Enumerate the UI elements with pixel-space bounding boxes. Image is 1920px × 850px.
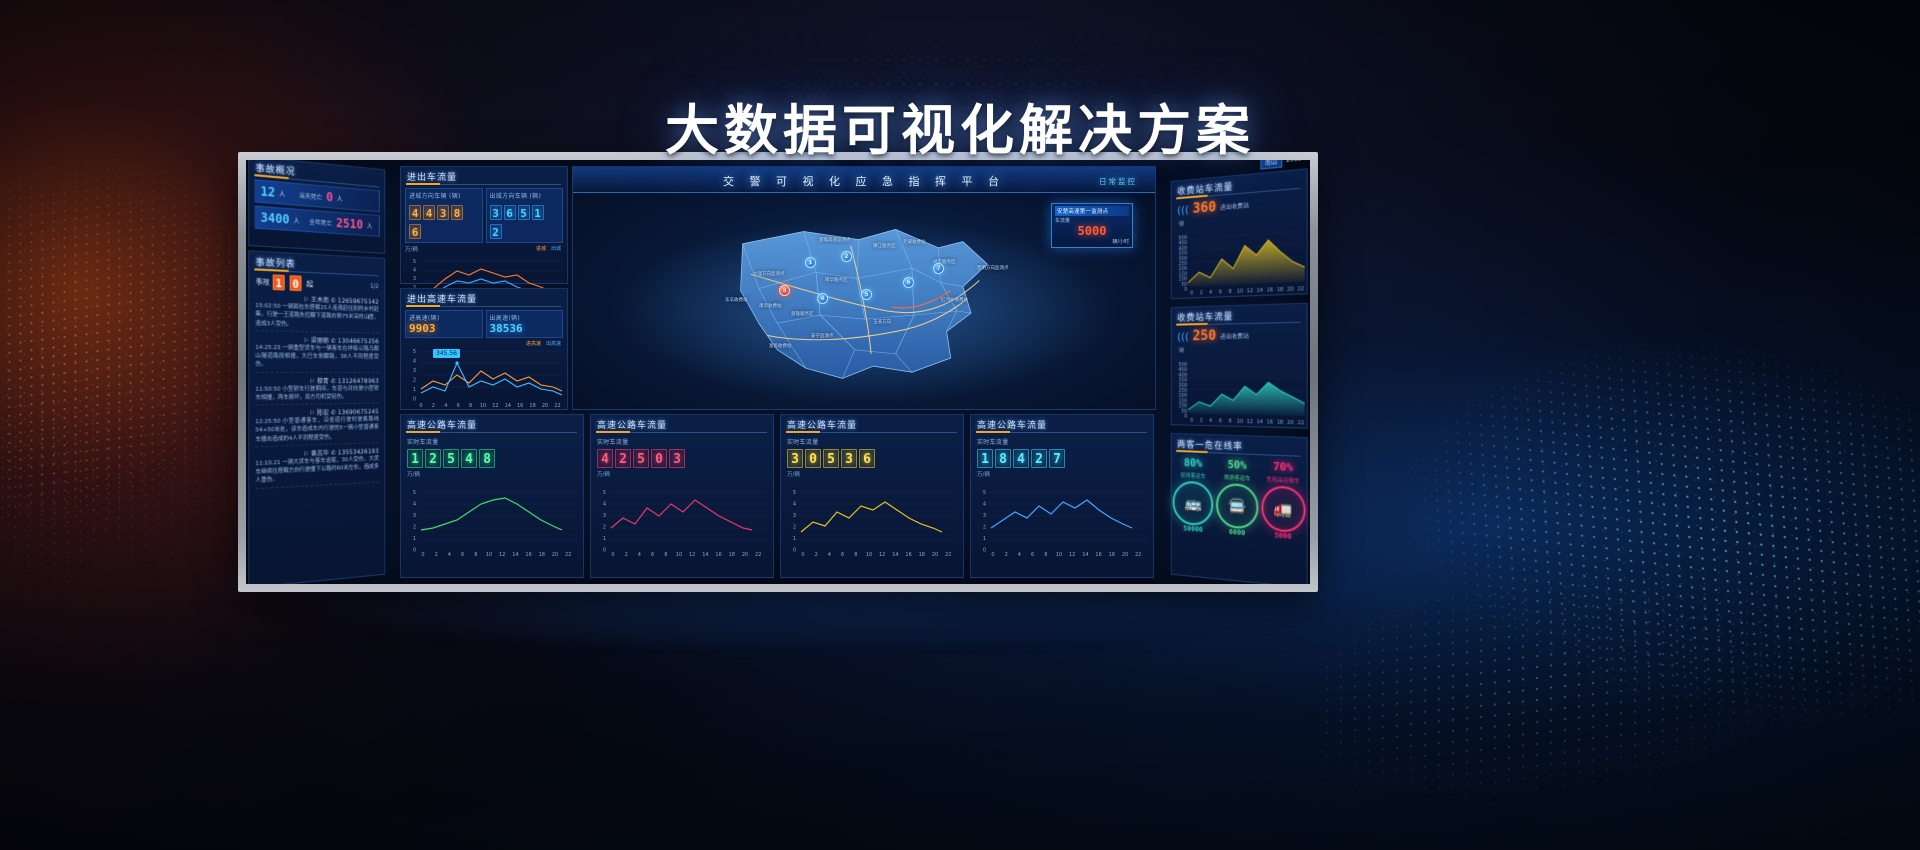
axis-tick: 18 — [1277, 287, 1283, 294]
map-callout-unit: 辆/小时 — [1055, 238, 1129, 245]
map-callout-value: 5000 — [1055, 224, 1129, 238]
digit-0: 1 — [977, 449, 993, 468]
axis-tick: 20 — [1287, 286, 1293, 293]
axis-tick: 4 — [413, 359, 416, 365]
digit-2: 3 — [437, 205, 449, 220]
axis-tick: 6 — [461, 552, 464, 558]
axis-tick: 6 — [1031, 552, 1034, 558]
outbound-digits: 36512 — [490, 202, 560, 240]
digit-3: 4 — [461, 449, 477, 468]
panel-highway-flow-4: 高速公路车流量实时车流量18427万/辆54321002468101214161… — [970, 414, 1154, 578]
highway-flow-title: 高速公路车流量 — [781, 415, 963, 433]
axis-tick: 20 — [742, 552, 748, 558]
toll-station-value: 250 — [1193, 328, 1217, 344]
accident-list-items[interactable]: ⚐ 王木南 ✆ 1265967554215:02:50 一辆面包车搭载15人连夜… — [249, 292, 384, 489]
highway-flow-chart: 5432100246810121416182022 — [405, 478, 581, 564]
axis-tick: 22 — [565, 552, 571, 558]
axis-tick: 0 — [1190, 418, 1193, 424]
digit-1: 6 — [504, 205, 516, 220]
digit-0: 3 — [490, 205, 502, 220]
highway-flow-sub: 实时车流量 — [597, 437, 773, 446]
map-label: 元谋收费站 — [903, 239, 926, 245]
axis-tick: 10 — [1237, 419, 1243, 426]
year-death-caption: 全年死亡 — [309, 216, 332, 227]
axis-tick: 16 — [517, 403, 523, 409]
axis-tick: 6 — [1219, 289, 1222, 295]
truck-icon: 🚛 — [1261, 485, 1305, 534]
axis-tick: 20 — [542, 403, 548, 409]
digit-2: 5 — [823, 449, 839, 468]
axis-tick: 0 — [1184, 287, 1187, 293]
axis-tick: 18 — [529, 403, 535, 409]
toll-station-value: 360 — [1193, 199, 1217, 217]
axis-tick: 14 — [505, 403, 511, 409]
axis-tick: 14 — [1257, 287, 1263, 294]
today-death-unit: 人 — [337, 193, 343, 203]
axis-tick: 5 — [983, 490, 986, 496]
map-pin[interactable]: 5 — [861, 289, 872, 300]
axis-tick: 2 — [435, 552, 438, 558]
axis-tick: 5 — [603, 490, 606, 496]
axis-tick: 18 — [1277, 419, 1283, 426]
axis-tick: 22 — [1298, 420, 1305, 427]
axis-tick: 4 — [1018, 552, 1021, 558]
highway-flow-unit: 万/辆 — [407, 470, 583, 478]
online-rate-items: 80%班线客运车🚌5000050%旅游客运车🚍600070%危险品运输车🚛500… — [1172, 452, 1307, 542]
axis-tick: 4 — [983, 502, 986, 508]
axis-tick: 12 — [689, 552, 695, 558]
online-rate-item[interactable]: 80%班线客运车🚌50000 — [1172, 456, 1215, 535]
axis-tick: 0 — [413, 548, 416, 554]
axis-tick: 100 — [1178, 276, 1187, 283]
axis-tick: 3 — [413, 368, 416, 374]
axis-tick: 0 — [419, 403, 422, 409]
highway-flow-sub: 实时车流量 — [407, 437, 583, 446]
online-rate-count: 50000 — [1172, 524, 1215, 535]
accident-count-unit: 起 — [306, 278, 313, 288]
list-item[interactable]: ⚐ 陈宏 ✆ 1369067524512:25:50 小型普通客车，沿省道行驶时… — [255, 407, 378, 448]
toll-station-label: 进出收费站 — [1220, 331, 1249, 341]
digit-4: 8 — [479, 449, 495, 468]
axis-tick: 2 — [793, 525, 796, 531]
accident-list-title: 事故列表 — [249, 251, 384, 276]
list-item[interactable]: ⚐ 梁丽丽 ✆ 1304667525614:25:23 一辆重型货车与一辆客车在… — [255, 334, 378, 372]
highway-flow-chart: 5432100246810121416182022 — [975, 478, 1151, 564]
online-rate-name: 班线客运车 — [1172, 470, 1215, 480]
legend-highway-in: 进高速 — [526, 340, 541, 347]
digit-2: 4 — [1013, 449, 1029, 468]
axis-tick: 10 — [1056, 552, 1062, 558]
panel-highway-flow-1: 高速公路车流量实时车流量12548万/辆54321002468101214161… — [400, 414, 584, 578]
digit-4: 7 — [1049, 449, 1065, 468]
axis-tick: 12 — [1069, 552, 1075, 558]
highway-flow-digits: 18427 — [977, 448, 1153, 468]
axis-tick: 20 — [1287, 420, 1293, 427]
accident-contact: ⚐ 穆青 ✆ 13126478963 — [255, 375, 378, 385]
map-label: 东瓜收费站 — [725, 297, 748, 303]
highway-flow-chart: 5432100246810121416182022 — [595, 478, 771, 564]
accident-count: 事故 1 0 起 1/2 — [255, 274, 378, 294]
axis-tick: 18 — [1277, 419, 1283, 426]
axis-tick: 6 — [457, 403, 460, 409]
wall-segment-center: 进出车流量 进城方向车辆 (辆) 44386 出城方向车辆 (辆) 36512 — [396, 160, 1160, 584]
digit-3: 1 — [532, 205, 544, 220]
axis-tick: 10 — [486, 552, 492, 558]
axis-tick: 10 — [1237, 288, 1243, 295]
axis-tick: 14 — [892, 552, 898, 558]
digit-3: 3 — [841, 449, 857, 468]
map-label: 昆明方向监测点 — [977, 265, 1009, 271]
year-death-value: 2510 — [336, 216, 363, 232]
axis-tick: 12 — [492, 403, 498, 409]
toll-station-readout: ((( 250进出收费站 — [1177, 326, 1300, 344]
digit-4: 2 — [490, 224, 502, 239]
highway-out-value: 38536 — [490, 322, 560, 335]
axis-tick: 22 — [1298, 420, 1305, 427]
axis-tick: 16 — [1267, 419, 1273, 426]
axis-tick: 10 — [676, 552, 682, 558]
map-label: 红河州收费站 — [941, 297, 968, 303]
highway-flow-unit: 万/辆 — [597, 470, 773, 478]
panel-highway-flow-3: 高速公路车流量实时车流量30536万/辆54321002468101214161… — [780, 414, 964, 578]
accident-text: 11:50:50 小型轿车行驶期间，车道与对向驶小型轿车相撞，两车损坏，双方司机… — [255, 384, 378, 402]
toll-station-label: 进出收费站 — [1220, 200, 1249, 211]
axis-tick: 22 — [1298, 286, 1305, 293]
highway-flow-digits: 42503 — [597, 448, 773, 468]
axis-tick: 12 — [1247, 419, 1253, 426]
panel-toll-station-2: 收费站车流量((( 360进出收费站辆500450400350300250200… — [1171, 168, 1308, 299]
accident-text: 11:10:21 一辆大货车与客车追尾，30人受伤，大货车继续往搭载方向行驶撞下… — [255, 455, 378, 486]
year-death-unit: 人 — [367, 221, 373, 230]
coach-icon: 🚍 — [1216, 483, 1258, 530]
axis-tick: 0 — [611, 552, 614, 558]
axis-tick: 0 — [603, 548, 606, 554]
list-item[interactable]: ⚐ 黄志华 ✆ 1355342619311:10:21 一辆大货车与客车追尾，3… — [255, 446, 378, 489]
accident-count-digit-0: 1 — [273, 274, 285, 290]
axis-tick: 2 — [413, 378, 416, 384]
inbound-counter: 进城方向车辆 (辆) 44386 — [405, 188, 483, 243]
list-item[interactable]: ⚐ 穆青 ✆ 1312647896311:50:50 小型轿车行驶期间，车道与对… — [255, 375, 378, 405]
accident-list-page: 1/2 — [370, 283, 379, 290]
digit-0: 3 — [787, 449, 803, 468]
highway-flow-sub: 实时车流量 — [787, 437, 963, 446]
axis-tick: 8 — [1044, 552, 1047, 558]
highway-flow-digits: 30536 — [787, 448, 963, 468]
axis-tick: 4 — [413, 502, 416, 508]
accident-contact: ⚐ 王木南 ✆ 12659675542 — [255, 292, 378, 305]
bus-icon: 🚌 — [1173, 480, 1214, 526]
axis-tick: 2 — [625, 552, 628, 558]
axis-tick: 1 — [983, 536, 986, 542]
axis-tick: 6 — [1219, 289, 1222, 295]
axis-tick: 300 — [1178, 256, 1187, 263]
axis-tick: 18 — [1277, 287, 1283, 294]
axis-tick: 16 — [1267, 287, 1273, 294]
axis-tick: 18 — [919, 552, 925, 558]
inbound-digits: 44386 — [409, 202, 479, 240]
digit-1: 8 — [995, 449, 1011, 468]
axis-tick: 16 — [1267, 419, 1273, 426]
axis-tick: 12 — [1247, 288, 1253, 295]
online-rate-pct: 50% — [1215, 457, 1260, 472]
axis-tick: 4 — [638, 552, 641, 558]
map-pin[interactable]: 1 — [805, 257, 816, 268]
axis-tick: 22 — [554, 403, 560, 409]
panel-map: 交 警 可 视 化 应 急 指 挥 平 台 日常监控 — [572, 166, 1156, 410]
axis-tick: 1 — [413, 387, 416, 393]
axis-tick: 0 — [991, 552, 994, 558]
axis-tick: 4 — [1209, 418, 1212, 424]
axis-tick: 8 — [1229, 418, 1232, 424]
highway-flow-chart: 5432100246810121416182022 — [785, 478, 961, 564]
panel-highway-inout: 进出高速车流量 进高速(辆) 9903 出高速(辆) 38536 — [400, 288, 568, 410]
axis-tick: 4 — [603, 502, 606, 508]
axis-tick: 10 — [1237, 419, 1243, 426]
accident-text: 15:02:50 一辆面包车搭载15人连夜赶往别的乡村赶集，行驶一王道路失控翻下… — [255, 302, 378, 330]
toll-station-unit: 辆 — [1179, 345, 1303, 354]
digit-1: 4 — [423, 205, 435, 220]
digit-3: 2 — [1031, 449, 1047, 468]
today-death-value: 0 — [326, 190, 333, 205]
axis-tick: 4 — [1209, 290, 1212, 296]
axis-tick: 200 — [1178, 266, 1187, 273]
axis-tick: 12 — [879, 552, 885, 558]
toll-station-label: 进出收费站 — [1220, 331, 1249, 341]
digit-3: 8 — [451, 205, 463, 220]
axis-tick: 8 — [854, 552, 857, 558]
axis-tick: 20 — [1287, 286, 1293, 293]
axis-tick: 6 — [1219, 418, 1222, 424]
platform-subtitle: 日常监控 — [1099, 176, 1137, 187]
digit-1: 0 — [805, 449, 821, 468]
online-rate-name: 旅游客运车 — [1215, 473, 1260, 483]
axis-tick: 0 — [801, 552, 804, 558]
accident-text: 12:25:50 小型普通客车，沿省道行驶时驶离路线54+50米处，该车造成车内… — [255, 415, 378, 444]
today-injured-value: 12 — [261, 184, 276, 200]
digit-4: 3 — [669, 449, 685, 468]
axis-tick: 6 — [841, 552, 844, 558]
axis-tick: 0 — [983, 548, 986, 554]
highway-in-counter: 进高速(辆) 9903 — [405, 310, 483, 338]
online-rate-name: 危险品运输车 — [1260, 475, 1307, 486]
highway-flow-unit: 万/辆 — [787, 470, 963, 478]
digit-0: 1 — [407, 449, 423, 468]
signal-icon: ((( — [1177, 203, 1189, 217]
accident-count-digit-1: 0 — [290, 275, 302, 291]
digit-1: 2 — [425, 449, 441, 468]
particle-field-right — [1349, 296, 1920, 795]
digit-2: 5 — [518, 205, 530, 220]
highway-inout-title: 进出高速车流量 — [401, 289, 567, 307]
axis-tick: 5 — [793, 490, 796, 496]
axis-tick: 14 — [1082, 552, 1088, 558]
axis-tick: 500 — [1178, 235, 1187, 242]
axis-tick: 20 — [1122, 552, 1128, 558]
axis-tick: 10 — [1237, 288, 1243, 295]
axis-tick: 18 — [729, 552, 735, 558]
axis-tick: 2 — [413, 525, 416, 531]
signal-icon: ((( — [1177, 330, 1189, 343]
inout-flow-legend: 进城 出城 — [536, 245, 561, 252]
toll-station-title: 收费站车流量 — [1172, 304, 1307, 326]
axis-tick: 5 — [413, 490, 416, 496]
axis-tick: 150 — [1178, 271, 1187, 278]
axis-tick: 8 — [474, 552, 477, 558]
highway-out-counter: 出高速(辆) 38536 — [486, 310, 564, 338]
digit-1: 2 — [615, 449, 631, 468]
today-death-caption: 当天死亡 — [299, 190, 322, 201]
map-pin[interactable]: 2 — [841, 251, 852, 262]
legend-out: 出城 — [551, 245, 561, 252]
legend-in: 进城 — [536, 245, 546, 252]
map-pin[interactable]: 3 — [779, 285, 790, 296]
axis-tick: 8 — [1229, 289, 1232, 295]
axis-tick: 16 — [905, 552, 911, 558]
inbound-label: 进城方向车辆 (辆) — [409, 191, 479, 200]
axis-tick: 18 — [539, 552, 545, 558]
axis-tick: 20 — [1287, 420, 1293, 427]
axis-tick: 8 — [1229, 289, 1232, 295]
map-pin[interactable]: 7 — [933, 263, 944, 274]
axis-tick: 5 — [413, 349, 416, 355]
axis-tick: 10 — [480, 403, 486, 409]
map-pin[interactable]: 4 — [817, 293, 828, 304]
axis-tick: 2 — [1200, 418, 1203, 424]
digit-0: 4 — [597, 449, 613, 468]
digit-2: 5 — [443, 449, 459, 468]
axis-tick: 1 — [793, 536, 796, 542]
dashboard-screen: 事故概况 12 人 当天死亡 0 人 3400 人 全年死亡 2510 — [246, 160, 1310, 584]
axis-tick: 1 — [413, 536, 416, 542]
promo-stage: 大数据可视化解决方案 事故概况 12 人 当天死亡 0 人 — [0, 0, 1920, 850]
map-pin[interactable]: 6 — [903, 277, 914, 288]
axis-tick: 4 — [444, 403, 447, 409]
axis-tick: 22 — [1135, 552, 1141, 558]
axis-tick: 0 — [1190, 290, 1193, 296]
list-item[interactable]: ⚐ 王木南 ✆ 1265967554215:02:50 一辆面包车搭载15人连夜… — [255, 292, 378, 333]
axis-tick: 6 — [1219, 418, 1222, 424]
axis-tick: 1 — [603, 536, 606, 542]
axis-tick: 8 — [469, 403, 472, 409]
online-rate-count: 5000 — [1260, 530, 1307, 542]
toll-station-chart: 5004504003503002502001501005000246810121… — [1175, 219, 1304, 301]
axis-tick: 22 — [1298, 286, 1305, 293]
outbound-counter: 出城方向车辆 (辆) 36512 — [486, 188, 564, 243]
toll-station-label: 进出收费站 — [1220, 200, 1249, 211]
axis-tick: 2 — [603, 525, 606, 531]
axis-tick: 6 — [651, 552, 654, 558]
highway-flow-title: 高速公路车流量 — [591, 415, 773, 433]
map-canvas[interactable]: 交 警 可 视 化 应 急 指 挥 平 台 日常监控 — [573, 167, 1155, 409]
axis-tick: 20 — [932, 552, 938, 558]
toll-station-title: 收费站车流量 — [1172, 169, 1307, 199]
axis-tick: 14 — [702, 552, 708, 558]
axis-tick: 2 — [432, 403, 435, 409]
headline-title: 大数据可视化解决方案 — [665, 86, 1255, 165]
map-label: 富民收费站 — [769, 343, 792, 349]
axis-tick: 18 — [1109, 552, 1115, 558]
axis-tick: 2 — [983, 525, 986, 531]
axis-tick: 3 — [603, 513, 606, 519]
online-rate-item[interactable]: 70%危险品运输车🚛5000 — [1260, 459, 1307, 542]
map-label: 南华服务区 — [825, 277, 848, 283]
axis-tick: 4 — [793, 502, 796, 508]
map-label: 安宁监测点 — [811, 333, 834, 339]
accident-count-label: 事故 — [255, 276, 269, 287]
inout-flow-title: 进出车流量 — [401, 167, 567, 185]
today-injured-unit: 人 — [279, 188, 285, 198]
axis-tick: 0 — [1184, 413, 1187, 419]
axis-tick: 8 — [1229, 418, 1232, 424]
axis-tick: 0 — [793, 548, 796, 554]
axis-tick: 2 — [1200, 290, 1203, 296]
online-rate-item[interactable]: 50%旅游客运车🚍6000 — [1215, 457, 1260, 538]
axis-tick: 0 — [421, 552, 424, 558]
highway-flow-title: 高速公路车流量 — [401, 415, 583, 433]
axis-tick: 22 — [755, 552, 761, 558]
legend-highway-out: 出高速 — [546, 340, 561, 347]
axis-tick: 12 — [1247, 419, 1253, 426]
axis-tick: 16 — [525, 552, 531, 558]
accident-contact: ⚐ 梁丽丽 ✆ 13046675256 — [255, 334, 378, 345]
toll-station-chart: 5004504003503002502001501005000246810121… — [1175, 353, 1304, 431]
axis-tick: 4 — [1209, 418, 1212, 424]
highway-flow-unit: 万/辆 — [977, 470, 1153, 478]
axis-tick: 3 — [413, 276, 416, 282]
wall-segment-left: 事故概况 12 人 当天死亡 0 人 3400 人 全年死亡 2510 — [246, 160, 389, 584]
highway-out-label: 出高速(辆) — [490, 313, 560, 322]
digit-4: 6 — [409, 224, 421, 239]
wall-segment-right: 南山 2018-0 收费站车流量((( 412进出收费站辆50045040035… — [1167, 160, 1310, 584]
highway-chart-tooltip: 345.56 — [433, 349, 460, 358]
highway-inout-legend: 进高速 出高速 — [526, 340, 561, 347]
year-injured-value: 3400 — [261, 210, 290, 227]
axis-tick: 14 — [1257, 287, 1263, 294]
axis-tick: 14 — [512, 552, 518, 558]
online-rate-pct: 70% — [1260, 459, 1307, 475]
axis-tick: 10 — [866, 552, 872, 558]
axis-tick: 16 — [715, 552, 721, 558]
online-rate-count: 6000 — [1215, 527, 1260, 539]
axis-tick: 16 — [1267, 287, 1273, 294]
axis-tick: 16 — [1095, 552, 1101, 558]
panel-accident-overview: 事故概况 12 人 当天死亡 0 人 3400 人 全年死亡 2510 — [248, 160, 385, 254]
axis-tick: 22 — [945, 552, 951, 558]
axis-tick: 14 — [1257, 419, 1263, 426]
map-label: 南华收费站 — [759, 303, 782, 309]
highway-flow-sub: 实时车流量 — [977, 437, 1153, 446]
video-wall: 事故概况 12 人 当天死亡 0 人 3400 人 全年死亡 2510 — [238, 152, 1318, 592]
digit-0: 4 — [409, 205, 421, 220]
year-injured-unit: 人 — [294, 215, 300, 225]
highway-flow-digits: 12548 — [407, 448, 583, 468]
platform-title: 交 警 可 视 化 应 急 指 挥 平 台 — [573, 173, 1155, 189]
panel-highway-flow-2: 高速公路车流量实时车流量42503万/辆54321002468101214161… — [590, 414, 774, 578]
panel-online-rate: 两客一危在线率80%班线客运车🚌5000050%旅游客运车🚍600070%危险品… — [1171, 433, 1308, 584]
map-callout[interactable]: 安楚高速第一监测点 车流量 5000 辆/小时 — [1051, 203, 1133, 248]
accident-text: 14:25:23 一辆重型货车与一辆客车在祥临公路马鞍山隧道路段相撞，大巴车侧翻… — [255, 343, 378, 369]
headline: 大数据可视化解决方案 — [0, 86, 1920, 165]
map-label: 大理方向监测点 — [753, 271, 785, 277]
axis-tick: 12 — [499, 552, 505, 558]
highway-inout-chart: 5432100246810121416182022 — [405, 341, 565, 411]
axis-tick: 250 — [1178, 261, 1187, 268]
online-rate-pct: 80% — [1172, 456, 1215, 471]
digit-3: 0 — [651, 449, 667, 468]
map-label: 镇江服务区 — [873, 243, 896, 249]
axis-tick: 2 — [815, 552, 818, 558]
axis-tick: 3 — [413, 513, 416, 519]
